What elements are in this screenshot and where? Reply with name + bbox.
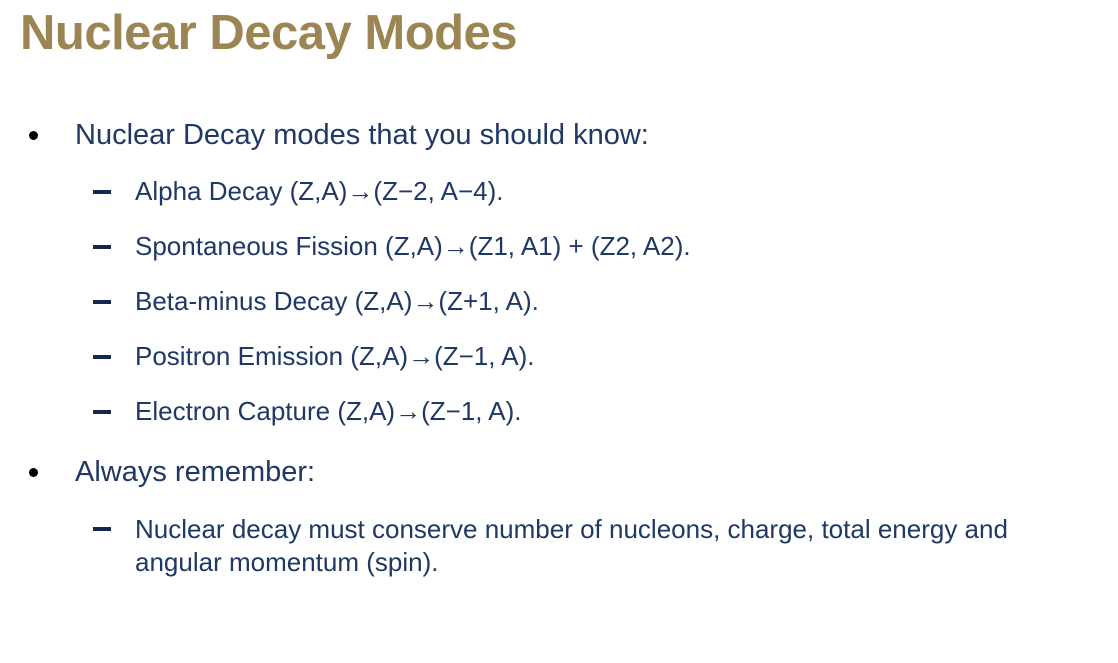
en-dash-icon [93, 410, 111, 414]
bullet-item-always-remember-heading: Always remember: [0, 455, 1118, 489]
sub-list-always-remember: Nuclear decay must conserve number of nu… [0, 513, 1118, 579]
sub-bullet-label: Nuclear decay must conserve number of nu… [135, 514, 1008, 577]
sub-bullet-label: Beta-minus Decay (Z,A)→(Z+1, A). [135, 286, 539, 316]
bullet-item-decay-modes-heading: Nuclear Decay modes that you should know… [0, 118, 1118, 152]
sub-bullet-item-spontaneous-fission: Spontaneous Fission (Z,A)→(Z1, A1) + (Z2… [0, 231, 1118, 262]
page-title: Nuclear Decay Modes [20, 2, 517, 64]
sub-bullet-item-electron-capture: Electron Capture (Z,A)→(Z−1, A). [0, 396, 1118, 427]
sub-bullet-item-conservation-rule: Nuclear decay must conserve number of nu… [0, 513, 1118, 579]
sub-list-decay-modes: Alpha Decay (Z,A)→(Z−2, A−4). Spontaneou… [0, 176, 1118, 427]
slide-body: Nuclear Decay modes that you should know… [0, 118, 1118, 591]
sub-bullet-label: Electron Capture (Z,A)→(Z−1, A). [135, 396, 522, 426]
sub-bullet-label: Positron Emission (Z,A)→(Z−1, A). [135, 341, 534, 371]
en-dash-icon [93, 355, 111, 359]
slide: Nuclear Decay Modes Nuclear Decay modes … [0, 0, 1118, 663]
bullet-dot-icon [29, 131, 38, 140]
en-dash-icon [93, 190, 111, 194]
bullet-label: Nuclear Decay modes that you should know… [75, 119, 649, 151]
en-dash-icon [93, 527, 111, 531]
sub-bullet-item-beta-minus-decay: Beta-minus Decay (Z,A)→(Z+1, A). [0, 286, 1118, 317]
en-dash-icon [93, 300, 111, 304]
bullet-label: Always remember: [75, 456, 315, 488]
sub-bullet-label: Alpha Decay (Z,A)→(Z−2, A−4). [135, 176, 503, 206]
sub-bullet-item-positron-emission: Positron Emission (Z,A)→(Z−1, A). [0, 341, 1118, 372]
bullet-dot-icon [29, 468, 38, 477]
en-dash-icon [93, 245, 111, 249]
section-spacer [0, 439, 1118, 455]
sub-bullet-item-alpha-decay: Alpha Decay (Z,A)→(Z−2, A−4). [0, 176, 1118, 207]
sub-bullet-label: Spontaneous Fission (Z,A)→(Z1, A1) + (Z2… [135, 231, 691, 261]
